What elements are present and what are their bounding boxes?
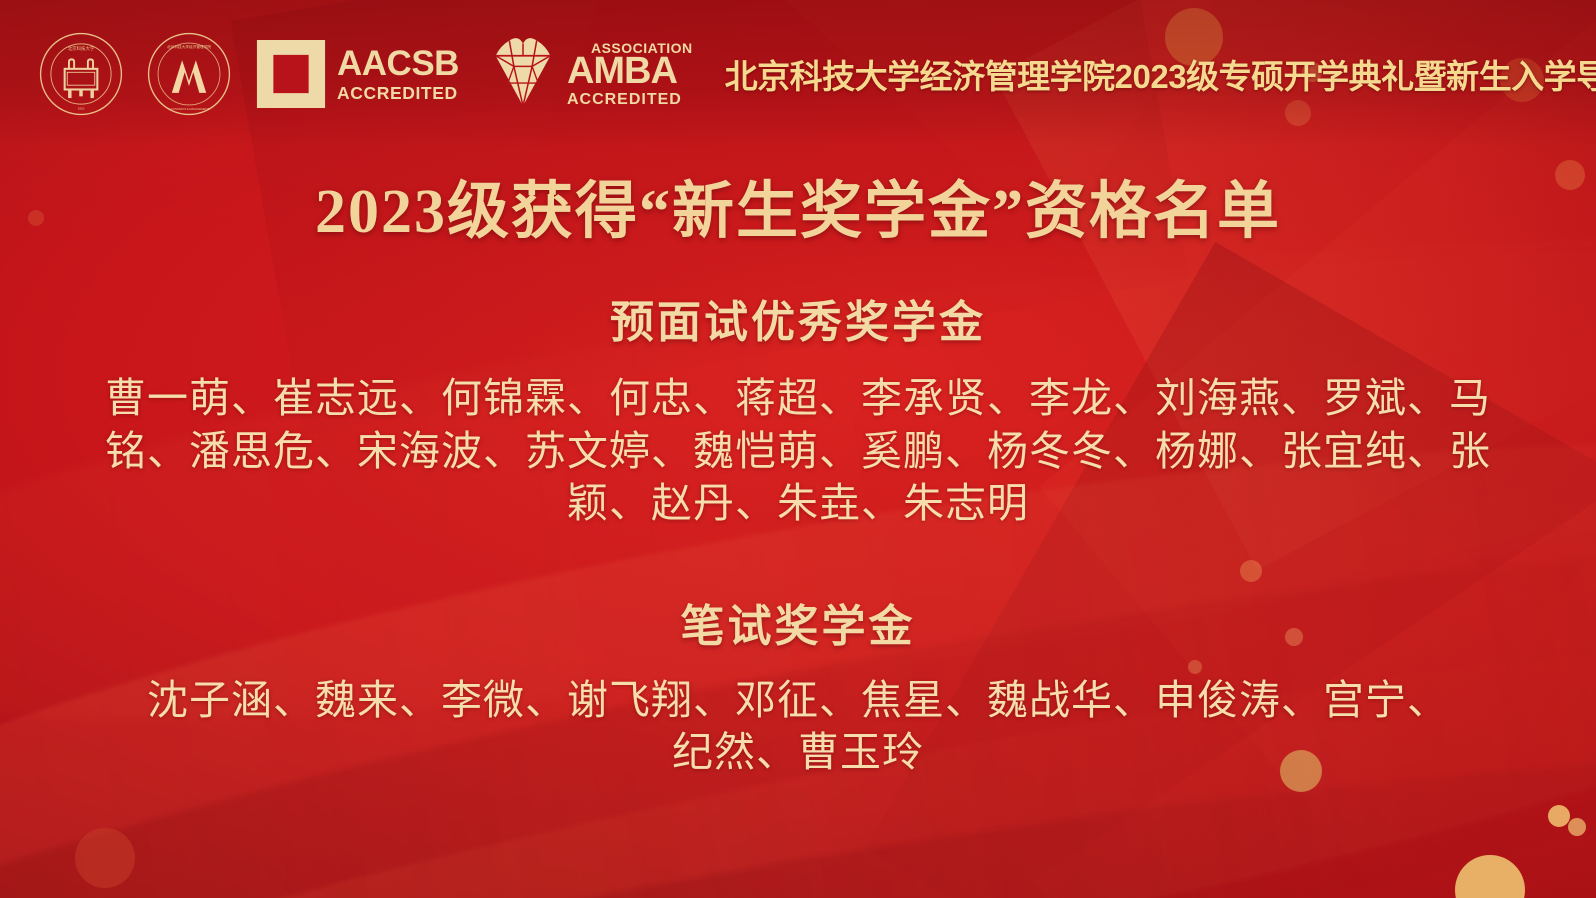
svg-text:1952: 1952 [78,106,85,110]
ustb-seal-icon: 北京科技大学 1952 [38,31,124,117]
event-title: 北京科技大学经济管理学院2023级专硕开学典礼暨新生入学导学会 [725,50,1596,98]
aacsb-logo: AACSB ACCREDITED [254,37,459,111]
amba-diamond-icon [485,36,561,112]
scholarship-announcement-slide: 北京科技大学 1952 北京科技大学经济管理学院 ECONOMICS & MAN… [0,0,1596,898]
amba-logo: ASSOCIATION AMBA ACCREDITED [485,36,693,112]
page-title: 2023级获得“新生奖学金”资格名单 [0,178,1596,246]
aacsb-label: AACSB [337,46,459,81]
amba-accredited-label: ACCREDITED [567,92,693,108]
svg-text:ECONOMICS & MANAGEMENT: ECONOMICS & MANAGEMENT [169,107,209,111]
aacsb-accredited-label: ACCREDITED [337,85,459,103]
svg-text:北京科技大学经济管理学院: 北京科技大学经济管理学院 [167,44,212,49]
name-list-written-exam: 沈子涵、魏来、李微、谢飞翔、邓征、焦星、魏战华、申俊涛、宫宁、纪然、曹玉玲 [133,674,1463,779]
aacsb-mark-icon [254,37,328,111]
slide-content: 2023级获得“新生奖学金”资格名单 预面试优秀奖学金 曹一萌、崔志远、何锦霖、… [0,148,1596,898]
section-heading-written-exam: 笔试奖学金 [0,590,1596,654]
header-bar: 北京科技大学 1952 北京科技大学经济管理学院 ECONOMICS & MAN… [0,0,1596,148]
amba-label: AMBA [567,52,693,90]
section-heading-pre-interview: 预面试优秀奖学金 [0,286,1596,350]
name-list-pre-interview: 曹一萌、崔志远、何锦霖、何忠、蒋超、李承贤、李龙、刘海燕、罗斌、马铭、潘思危、宋… [103,372,1493,529]
svg-text:北京科技大学: 北京科技大学 [68,45,95,52]
sem-seal-icon: 北京科技大学经济管理学院 ECONOMICS & MANAGEMENT [146,31,232,117]
